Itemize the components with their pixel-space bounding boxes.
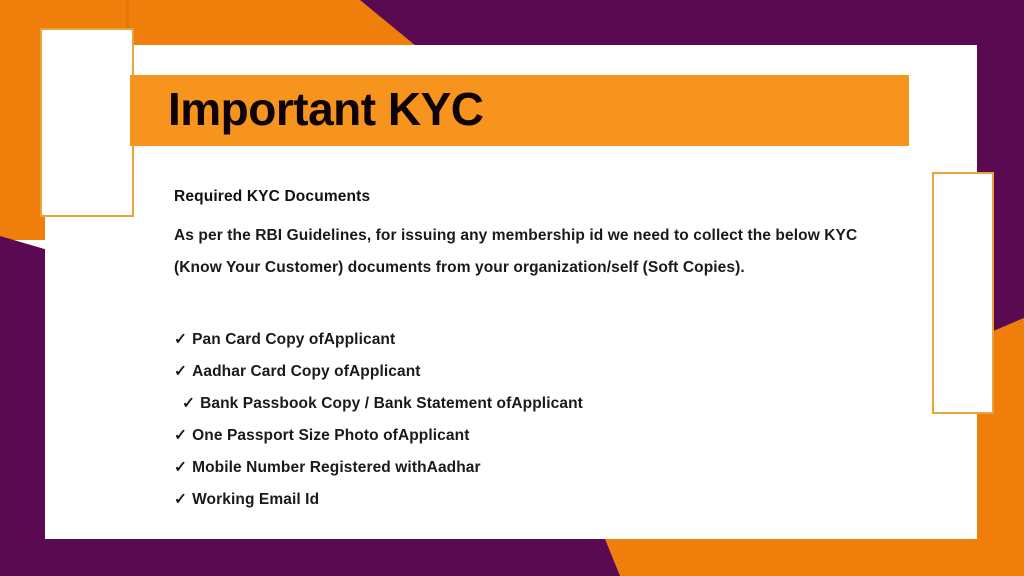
slide-canvas: Important KYC Required KYC Documents As … [0, 0, 1024, 576]
check-icon: ✓ [174, 452, 187, 484]
intro-paragraph: As per the RBI Guidelines, for issuing a… [174, 220, 899, 284]
page-title: Important KYC [168, 78, 868, 140]
bottom-orange-wedge [605, 539, 1024, 576]
body-content: Required KYC Documents As per the RBI Gu… [174, 188, 934, 516]
list-item-label: Aadhar Card Copy ofApplicant [192, 363, 420, 380]
list-item-label: Mobile Number Registered withAadhar [192, 459, 481, 476]
check-icon: ✓ [174, 484, 187, 516]
list-item-label: Pan Card Copy ofApplicant [192, 331, 395, 348]
check-icon: ✓ [174, 356, 187, 388]
list-item: ✓One Passport Size Photo ofApplicant [174, 420, 934, 452]
kyc-document-list: ✓Pan Card Copy ofApplicant ✓Aadhar Card … [174, 324, 934, 516]
section-subheading: Required KYC Documents [174, 188, 934, 206]
list-item-label: Bank Passbook Copy / Bank Statement ofAp… [200, 395, 583, 412]
check-icon: ✓ [182, 388, 195, 420]
list-item-label: One Passport Size Photo ofApplicant [192, 427, 469, 444]
list-item: ✓Working Email Id [174, 484, 934, 516]
top-purple-wedge [360, 0, 1024, 46]
list-item-label: Working Email Id [192, 491, 319, 508]
check-icon: ✓ [174, 420, 187, 452]
gold-accent-rect-right [932, 172, 994, 414]
gold-accent-rect-left [40, 28, 134, 217]
list-item: ✓Mobile Number Registered withAadhar [174, 452, 934, 484]
list-item: ✓Bank Passbook Copy / Bank Statement ofA… [174, 388, 934, 420]
list-item: ✓Aadhar Card Copy ofApplicant [174, 356, 934, 388]
check-icon: ✓ [174, 324, 187, 356]
list-item: ✓Pan Card Copy ofApplicant [174, 324, 934, 356]
